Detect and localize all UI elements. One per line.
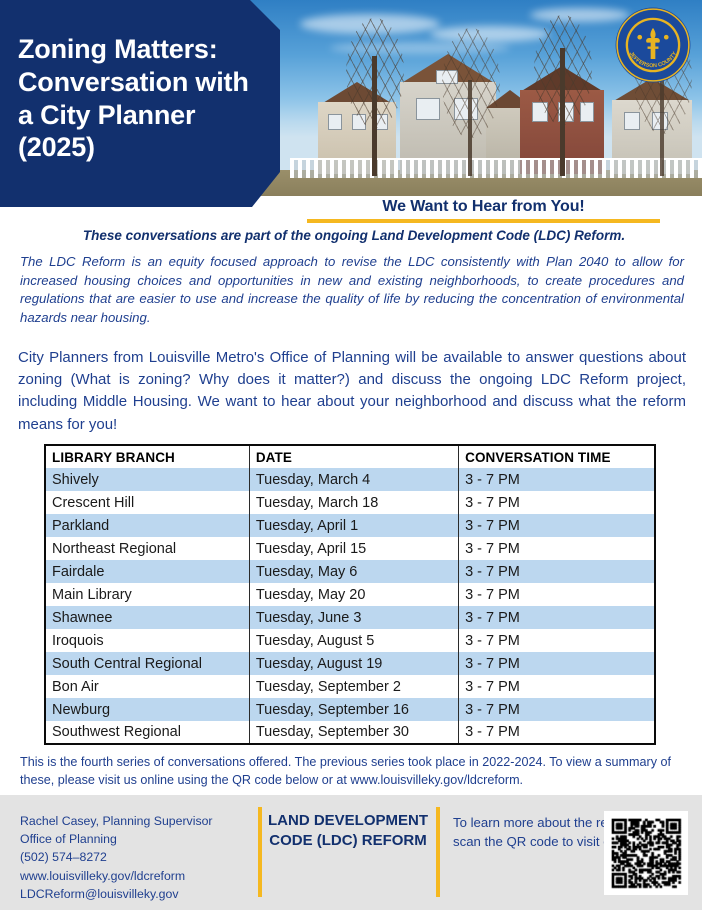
contact-phone[interactable]: (502) 574–8272: [20, 848, 213, 866]
tree: [468, 80, 472, 176]
cell-time: 3 - 7 PM: [459, 560, 655, 583]
cell-date: Tuesday, April 1: [249, 514, 458, 537]
table-row: FairdaleTuesday, May 63 - 7 PM: [45, 560, 655, 583]
table-row: ShivelyTuesday, March 43 - 7 PM: [45, 468, 655, 491]
cell-branch: Newburg: [45, 698, 249, 721]
cell-time: 3 - 7 PM: [459, 675, 655, 698]
cell-date: Tuesday, September 30: [249, 721, 458, 744]
cell-time: 3 - 7 PM: [459, 468, 655, 491]
cell-branch: Bon Air: [45, 675, 249, 698]
cell-date: Tuesday, March 4: [249, 468, 458, 491]
cell-branch: Iroquois: [45, 629, 249, 652]
cell-branch: Southwest Regional: [45, 721, 249, 744]
cell-date: Tuesday, September 2: [249, 675, 458, 698]
footnote: This is the fourth series of conversatio…: [20, 753, 686, 790]
cell-date: Tuesday, March 18: [249, 491, 458, 514]
tree: [372, 56, 377, 176]
page-title: Zoning Matters: Conversation with a City…: [18, 33, 262, 165]
cell-time: 3 - 7 PM: [459, 629, 655, 652]
cell-time: 3 - 7 PM: [459, 606, 655, 629]
table-row: Bon AirTuesday, September 23 - 7 PM: [45, 675, 655, 698]
schedule-table: LIBRARY BRANCH DATE CONVERSATION TIME Sh…: [44, 444, 656, 745]
tree: [560, 48, 565, 176]
cell-time: 3 - 7 PM: [459, 721, 655, 744]
cell-date: Tuesday, May 20: [249, 583, 458, 606]
table-row: NewburgTuesday, September 163 - 7 PM: [45, 698, 655, 721]
table-row: Crescent HillTuesday, March 183 - 7 PM: [45, 491, 655, 514]
table-header-row: LIBRARY BRANCH DATE CONVERSATION TIME: [45, 445, 655, 468]
cell-time: 3 - 7 PM: [459, 652, 655, 675]
intro-paragraph: The LDC Reform is an equity focused appr…: [20, 253, 684, 328]
cell-branch: Shively: [45, 468, 249, 491]
table-row: Northeast RegionalTuesday, April 153 - 7…: [45, 537, 655, 560]
cell-time: 3 - 7 PM: [459, 514, 655, 537]
cell-branch: Main Library: [45, 583, 249, 606]
ldc-reform-label: LAND DEVELOPMENT CODE (LDC) REFORM: [268, 811, 428, 851]
footer-divider: [436, 807, 440, 897]
footer-divider: [258, 807, 262, 897]
cell-date: Tuesday, August 19: [249, 652, 458, 675]
schedule-table-body: ShivelyTuesday, March 43 - 7 PMCrescent …: [45, 468, 655, 744]
cell-branch: Fairdale: [45, 560, 249, 583]
louisville-jefferson-county-seal-icon: LOUISVILLE JEFFERSON COUNTY: [614, 6, 692, 84]
contact-email[interactable]: LDCReform@louisvilleky.gov: [20, 885, 213, 903]
cell-branch: Crescent Hill: [45, 491, 249, 514]
cell-branch: Shawnee: [45, 606, 249, 629]
table-row: ParklandTuesday, April 13 - 7 PM: [45, 514, 655, 537]
hear-from-you-heading: We Want to Hear from You!: [307, 198, 660, 223]
contact-block: Rachel Casey, Planning Supervisor Office…: [20, 812, 213, 903]
contact-website[interactable]: www.louisvilleky.gov/ldcreform: [20, 867, 213, 885]
column-header-time: CONVERSATION TIME: [459, 445, 655, 468]
intro-bold-statement: These conversations are part of the ongo…: [24, 228, 684, 243]
cell-time: 3 - 7 PM: [459, 698, 655, 721]
cell-time: 3 - 7 PM: [459, 583, 655, 606]
contact-name: Rachel Casey, Planning Supervisor: [20, 812, 213, 830]
cell-time: 3 - 7 PM: [459, 537, 655, 560]
title-banner: Zoning Matters: Conversation with a City…: [0, 0, 280, 207]
cell-date: Tuesday, August 5: [249, 629, 458, 652]
table-row: Main LibraryTuesday, May 203 - 7 PM: [45, 583, 655, 606]
picket-fence: [290, 158, 702, 178]
table-row: IroquoisTuesday, August 53 - 7 PM: [45, 629, 655, 652]
tree: [660, 72, 664, 176]
header: Zoning Matters: Conversation with a City…: [0, 0, 702, 208]
table-row: South Central RegionalTuesday, August 19…: [45, 652, 655, 675]
cell-date: Tuesday, September 16: [249, 698, 458, 721]
cell-branch: Parkland: [45, 514, 249, 537]
footer: Rachel Casey, Planning Supervisor Office…: [0, 795, 702, 910]
column-header-branch: LIBRARY BRANCH: [45, 445, 249, 468]
cell-date: Tuesday, April 15: [249, 537, 458, 560]
column-header-date: DATE: [249, 445, 458, 468]
qr-code[interactable]: [604, 811, 688, 895]
cloud: [430, 26, 550, 42]
table-row: ShawneeTuesday, June 33 - 7 PM: [45, 606, 655, 629]
gold-rule: [307, 219, 660, 223]
table-row: Southwest RegionalTuesday, September 303…: [45, 721, 655, 744]
cell-branch: South Central Regional: [45, 652, 249, 675]
contact-office: Office of Planning: [20, 830, 213, 848]
cell-branch: Northeast Regional: [45, 537, 249, 560]
cell-date: Tuesday, June 3: [249, 606, 458, 629]
cell-date: Tuesday, May 6: [249, 560, 458, 583]
cell-time: 3 - 7 PM: [459, 491, 655, 514]
hear-from-you-text: We Want to Hear from You!: [307, 198, 660, 216]
main-paragraph: City Planners from Louisville Metro's Of…: [18, 347, 686, 436]
